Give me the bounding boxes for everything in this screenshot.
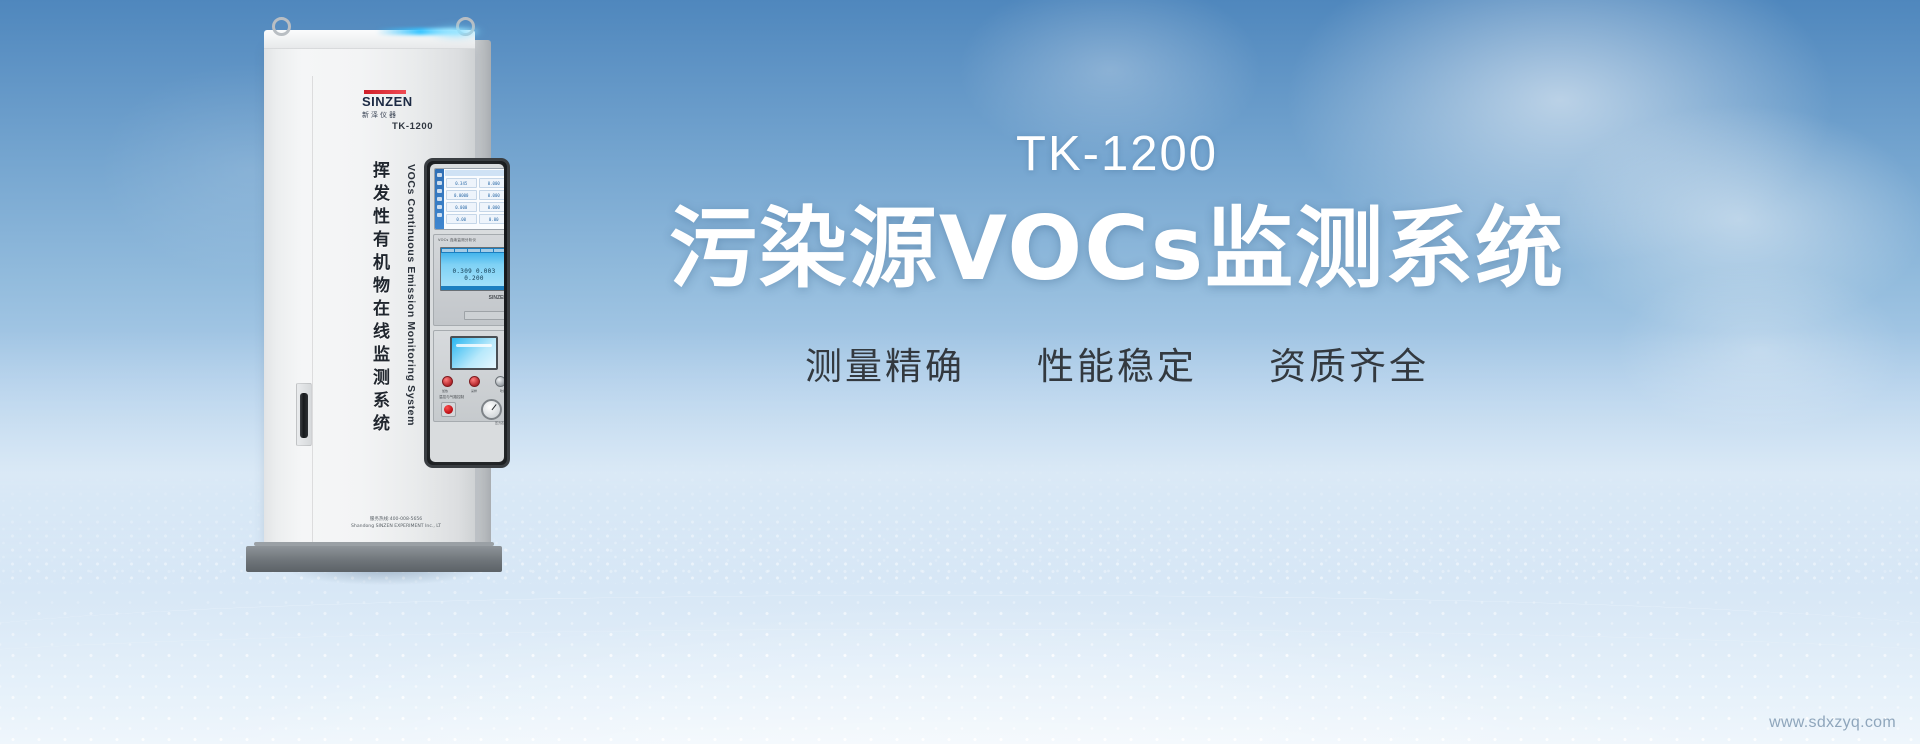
hmi-cell: 0.000 xyxy=(446,202,477,212)
analyzer-display: 0.309 0.003 0.200 xyxy=(440,247,504,291)
hmi-cell: 0.000 xyxy=(479,190,505,200)
knob-caption: 采样 xyxy=(471,389,477,393)
hmi-cell: 0.000 xyxy=(479,202,505,212)
analyzer-slot xyxy=(464,311,504,320)
mesh-wave-line xyxy=(0,595,1920,640)
door-seam xyxy=(312,76,313,572)
hmi-cell: 0.000 xyxy=(479,178,505,188)
brand-logo: SINZEN 新泽仪器 xyxy=(362,90,442,120)
analyzer-label: VOCs 连续监测分析仪 xyxy=(438,238,476,243)
brand-name: SINZEN xyxy=(362,95,442,108)
analyzer-reading: 0.309 0.003 0.200 xyxy=(441,268,504,282)
product-cabinet: SINZEN 新泽仪器 TK-1200 挥发性有机物在线监测系统 VOCs Co… xyxy=(258,18,508,578)
product-model-title: TK-1200 xyxy=(552,130,1682,179)
product-hero-banner: SINZEN 新泽仪器 TK-1200 挥发性有机物在线监测系统 VOCs Co… xyxy=(0,0,1920,744)
control-knob-heating xyxy=(442,376,453,387)
instrument-bay: 0.345 0.000 0.0000 0.000 0.000 0.000 0.0… xyxy=(424,158,510,468)
controller-display xyxy=(450,336,498,370)
feature-item: 资质齐全 xyxy=(1269,336,1429,390)
knob-caption-row: 加热 采样 吹扫 xyxy=(442,389,504,393)
cabinet-vertical-title-en: VOCs Continuous Emission Monitoring Syst… xyxy=(405,164,417,426)
knob-caption: 加热 xyxy=(442,389,448,393)
door-handle xyxy=(300,393,308,438)
cabinet-front-panel: SINZEN 新泽仪器 TK-1200 挥发性有机物在线监测系统 VOCs Co… xyxy=(264,46,475,546)
cabinet-footer-line: 服务热线:400-008-5656 xyxy=(326,516,466,523)
cabinet-footer-text: 服务热线:400-008-5656 Shandong SINZEN EXPERI… xyxy=(326,516,466,530)
hmi-side-menu xyxy=(435,169,444,229)
feature-list: 测量精确 性能稳定 资质齐全 xyxy=(552,336,1682,390)
hmi-title-bar xyxy=(445,170,504,176)
mesh-wave-line xyxy=(0,629,1920,674)
lifting-ring-icon xyxy=(272,17,291,36)
hmi-cell: 0.00 xyxy=(479,214,505,224)
control-knob-sampling xyxy=(469,376,480,387)
analyzer-brand: SINZEN xyxy=(489,295,504,301)
control-knob-purge xyxy=(495,376,504,387)
feature-item: 性能稳定 xyxy=(1037,336,1197,390)
feature-item: 测量精确 xyxy=(805,336,965,390)
pressure-gauge-icon xyxy=(481,399,502,420)
analyzer-display-bar xyxy=(441,248,504,253)
controller-section-label: 温控与气路控制 xyxy=(439,395,464,400)
knob-caption: 吹扫 xyxy=(500,389,504,393)
cabinet-footer-line: Shandong SINZEN EXPERIMENT Inc., LT xyxy=(326,523,466,530)
brand-name-cn: 新泽仪器 xyxy=(362,110,442,120)
cabinet-model-label: TK-1200 xyxy=(392,121,433,132)
pressure-gauge-label: 压力表 xyxy=(495,421,504,425)
controller-knob-row xyxy=(442,376,504,387)
analyzer-display-footer xyxy=(441,286,504,290)
instrument-bay-inner: 0.345 0.000 0.0000 0.000 0.000 0.000 0.0… xyxy=(430,164,504,462)
cabinet-vertical-title-cn: 挥发性有机物在线监测系统 xyxy=(370,161,387,437)
hmi-cell: 0.345 xyxy=(446,178,477,188)
cabinet-base-plinth xyxy=(246,546,502,572)
site-watermark: www.sdxzyq.com xyxy=(1769,714,1896,732)
hmi-cell: 0.00 xyxy=(446,214,477,224)
hmi-readout-grid: 0.345 0.000 0.0000 0.000 0.000 0.000 0.0… xyxy=(446,178,504,227)
controller-module: 加热 采样 吹扫 温控与气路控制 压力表 xyxy=(433,330,504,422)
emergency-stop-button xyxy=(441,402,456,417)
hero-copy: TK-1200 污染源VOCs监测系统 测量精确 性能稳定 资质齐全 xyxy=(552,130,1682,390)
hmi-cell: 0.0000 xyxy=(446,190,477,200)
analyzer-module: VOCs 连续监测分析仪 0.309 0.003 0.200 SINZEN xyxy=(433,234,504,326)
hero-headline: 污染源VOCs监测系统 xyxy=(552,201,1682,296)
status-led-strip xyxy=(376,28,481,35)
hmi-touch-screen: 0.345 0.000 0.0000 0.000 0.000 0.000 0.0… xyxy=(434,168,504,230)
